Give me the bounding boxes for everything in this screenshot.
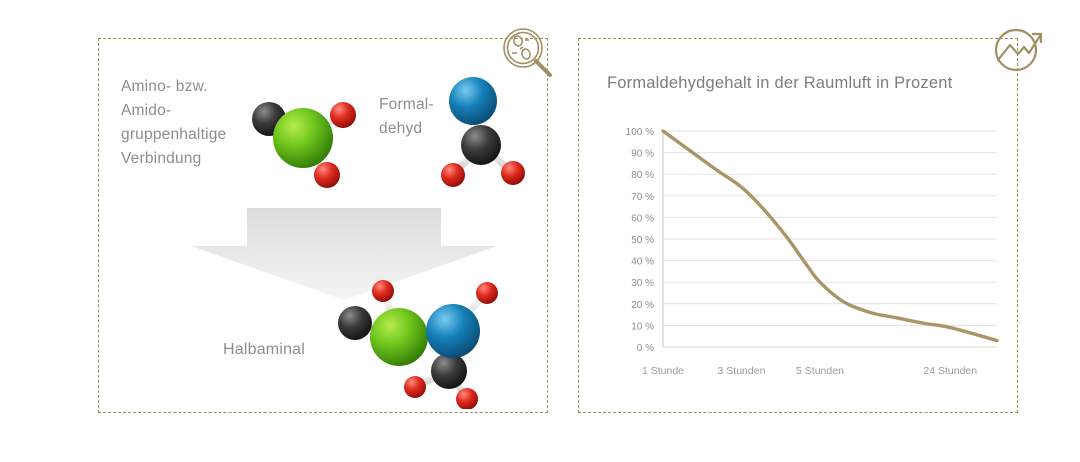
trend-chart-icon: [988, 20, 1050, 82]
molecule-halbaminal: [327, 275, 513, 409]
chart-line-series: [663, 131, 997, 341]
molecule-formaldehyde: [433, 69, 545, 197]
chart-canvas: 100 %90 %80 %70 %60 %50 %40 %30 %20 %10 …: [601, 119, 1001, 384]
y-axis-tick-label: 60 %: [631, 213, 654, 224]
chart-title: Formaldehydgehalt in der Raumluft in Pro…: [607, 74, 952, 93]
y-axis-tick-label: 90 %: [631, 149, 654, 160]
x-axis-tick-label: 3 Stunden: [718, 365, 766, 377]
x-axis-tick-label: 1 Stunde: [642, 365, 684, 377]
reaction-panel: Amino- bzw. Amido- gruppenhaltige Verbin…: [98, 38, 548, 413]
y-axis-tick-label: 0 %: [637, 343, 654, 354]
y-axis-tick-label: 10 %: [631, 321, 654, 332]
y-axis-tick-label: 50 %: [631, 235, 654, 246]
magnifier-molecule-icon: [498, 24, 560, 86]
y-axis-tick-label: 70 %: [631, 192, 654, 203]
y-axis-tick-label: 30 %: [631, 278, 654, 289]
x-axis-tick-label: 24 Stunden: [923, 365, 977, 377]
halbaminal-label: Halbaminal: [223, 338, 305, 362]
x-axis-tick-label: 5 Stunden: [796, 365, 844, 377]
molecule-amino-compound: [239, 83, 367, 195]
line-chart: 100 %90 %80 %70 %60 %50 %40 %30 %20 %10 …: [601, 119, 1001, 384]
y-axis-tick-label: 20 %: [631, 300, 654, 311]
y-axis-tick-label: 100 %: [626, 127, 654, 138]
y-axis-tick-label: 40 %: [631, 257, 654, 268]
y-axis-tick-label: 80 %: [631, 170, 654, 181]
chart-panel: Formaldehydgehalt in der Raumluft in Pro…: [578, 38, 1018, 413]
formaldehyde-label: Formal- dehyd: [379, 93, 434, 141]
amino-compound-label: Amino- bzw. Amido- gruppenhaltige Verbin…: [121, 75, 226, 171]
